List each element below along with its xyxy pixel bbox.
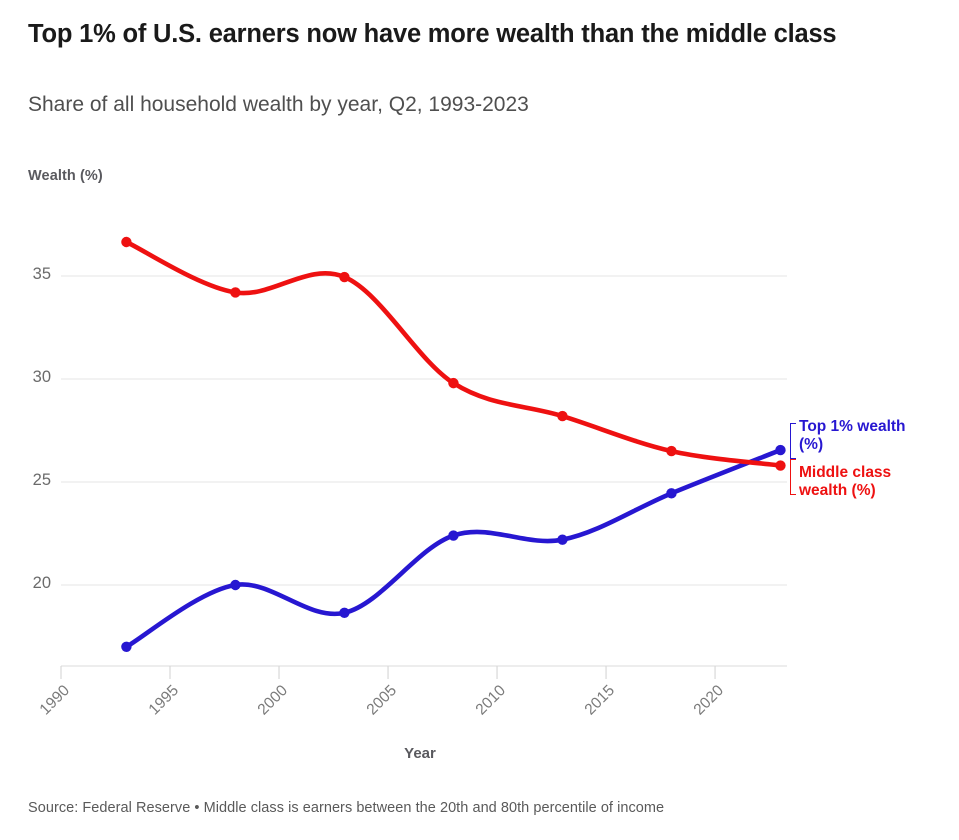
data-point-marker[interactable] — [339, 608, 349, 618]
data-point-marker[interactable] — [230, 580, 240, 590]
series-label-top1: Top 1% wealth (%) — [799, 418, 939, 455]
data-point-marker[interactable] — [121, 237, 131, 247]
y-tick-label: 20 — [5, 574, 51, 593]
data-point-marker[interactable] — [230, 287, 240, 297]
y-tick-label: 25 — [5, 471, 51, 490]
data-point-marker[interactable] — [448, 530, 458, 540]
data-point-marker[interactable] — [557, 534, 567, 544]
data-point-marker[interactable] — [557, 411, 567, 421]
gridlines — [61, 276, 787, 585]
series-lines — [126, 242, 780, 647]
y-tick-label: 30 — [5, 368, 51, 387]
series-label-middle: Middle class wealth (%) — [799, 464, 939, 501]
data-point-marker[interactable] — [666, 446, 676, 456]
tick-marks — [61, 666, 715, 679]
data-point-marker[interactable] — [121, 642, 131, 652]
data-point-marker[interactable] — [775, 460, 785, 470]
data-point-marker[interactable] — [666, 488, 676, 498]
data-point-marker[interactable] — [448, 378, 458, 388]
data-point-marker[interactable] — [339, 272, 349, 282]
middle-label-bracket — [790, 459, 796, 495]
source-note: Source: Federal Reserve • Middle class i… — [28, 800, 664, 816]
data-point-marker[interactable] — [775, 445, 785, 455]
chart-page: Top 1% of U.S. earners now have more wea… — [0, 0, 959, 840]
top1-label-bracket — [790, 423, 796, 459]
series-line — [126, 450, 780, 647]
y-tick-label: 35 — [5, 265, 51, 284]
